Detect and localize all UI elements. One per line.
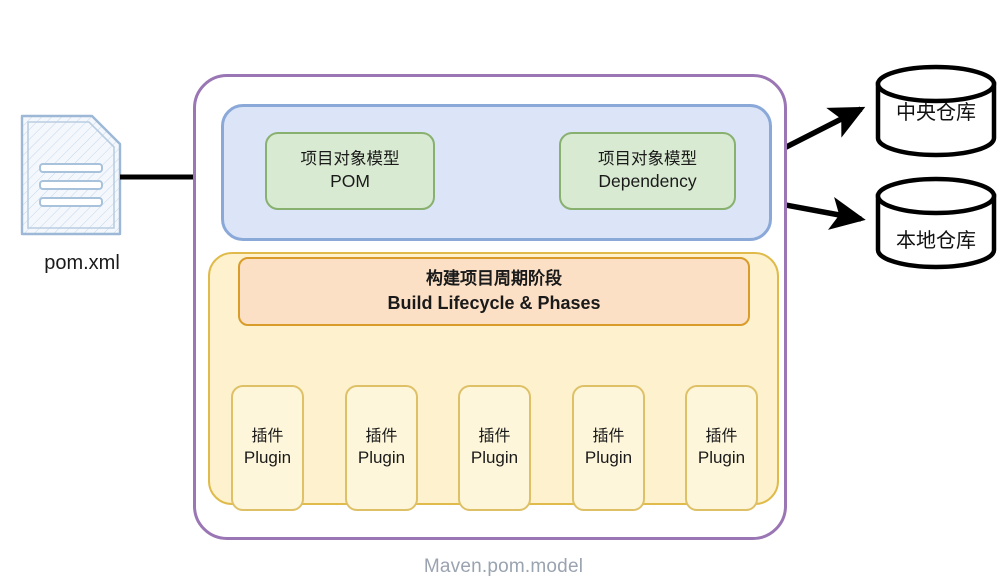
plugin-label-cn: 插件 [478, 427, 510, 448]
plugin-label-cn: 插件 [705, 427, 737, 448]
dependency-box-label-en: Dependency [598, 170, 696, 193]
central-repository-label: 中央仓库 [876, 96, 996, 125]
plugin-box[interactable]: 插件 Plugin [345, 385, 418, 511]
build-lifecycle-label-en: Build Lifecycle & Phases [387, 291, 600, 316]
plugin-box[interactable]: 插件 Plugin [572, 385, 645, 511]
plugin-label-en: Plugin [471, 447, 518, 469]
build-lifecycle-label-cn: 构建项目周期阶段 [426, 267, 562, 290]
pom-box[interactable]: 项目对象模型 POM [265, 132, 435, 210]
build-lifecycle-bar[interactable]: 构建项目周期阶段 Build Lifecycle & Phases [238, 257, 750, 326]
diagram-caption: Maven.pom.model [0, 556, 1007, 578]
plugin-label-cn: 插件 [251, 427, 283, 448]
plugin-label-cn: 插件 [592, 427, 624, 448]
dependency-box[interactable]: 项目对象模型 Dependency [559, 132, 736, 210]
plugin-box[interactable]: 插件 Plugin [685, 385, 758, 511]
plugin-label-en: Plugin [358, 447, 405, 469]
plugin-box[interactable]: 插件 Plugin [458, 385, 531, 511]
pom-box-label-en: POM [330, 170, 370, 193]
document-icon [22, 116, 120, 234]
pom-box-label-cn: 项目对象模型 [301, 148, 400, 170]
pom-xml-label: pom.xml [12, 252, 152, 275]
plugin-label-en: Plugin [698, 447, 745, 469]
plugin-box[interactable]: 插件 Plugin [231, 385, 304, 511]
plugin-label-cn: 插件 [365, 427, 397, 448]
plugin-label-en: Plugin [244, 447, 291, 469]
dependency-box-label-cn: 项目对象模型 [598, 148, 697, 170]
local-repository-cylinder [878, 179, 994, 267]
plugin-label-en: Plugin [585, 447, 632, 469]
local-repository-label: 本地仓库 [876, 224, 996, 253]
diagram-canvas: 项目对象模型 POM 项目对象模型 Dependency 构建项目周期阶段 Bu… [0, 0, 1007, 587]
